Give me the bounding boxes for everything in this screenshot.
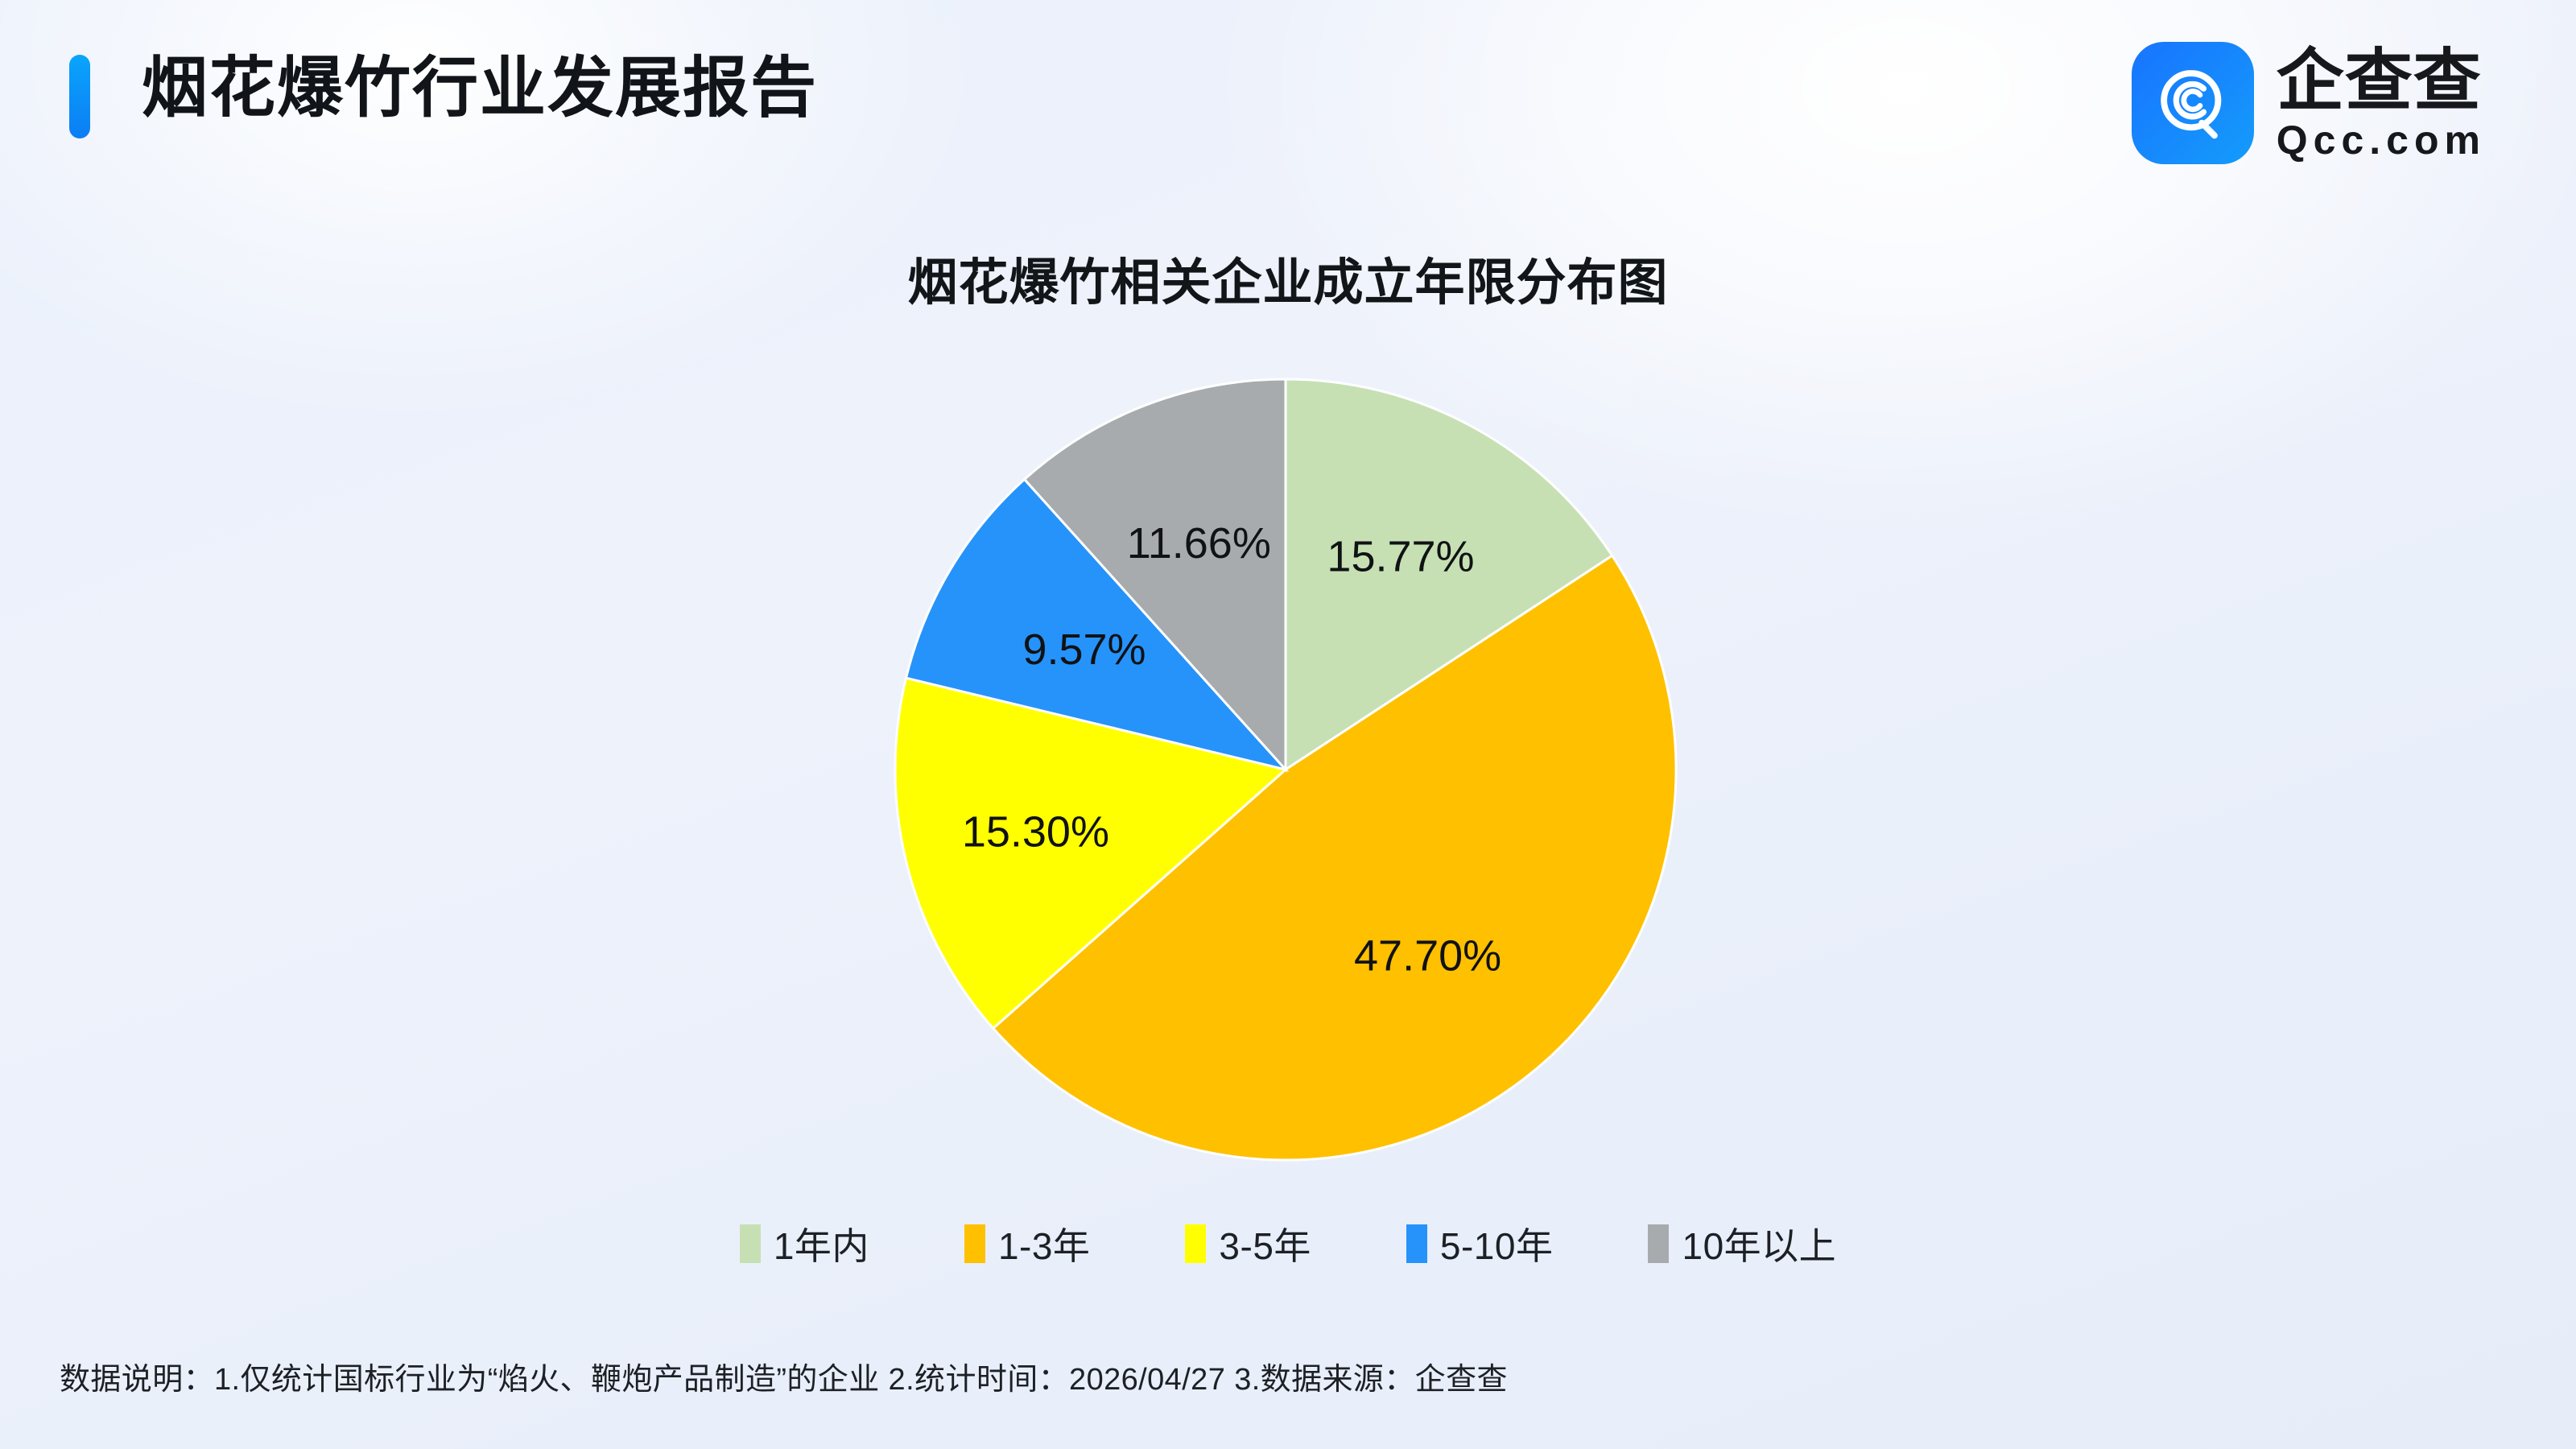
qcc-logo-icon (2132, 42, 2254, 164)
page-title: 烟花爆竹行业发展报告 (142, 43, 818, 134)
legend-swatch-icon (1185, 1224, 1206, 1263)
chart-legend: 1年内1-3年3-5年5-10年10年以上 (0, 1217, 2576, 1270)
legend-item-label: 5-10年 (1440, 1217, 1554, 1270)
legend-swatch-icon (740, 1224, 761, 1263)
legend-item[interactable]: 1年内 (740, 1217, 869, 1270)
brand-logo[interactable]: 企查查 Qcc.com (2132, 42, 2486, 164)
chart-title: 烟花爆竹相关企业成立年限分布图 (0, 242, 2576, 314)
pie-slice-label: 11.66% (1127, 519, 1271, 568)
report-page: 烟花爆竹行业发展报告 企查查 Qcc.com 烟花爆竹相关企业成立年限分布图 (0, 0, 2576, 1449)
page-header: 烟花爆竹行业发展报告 企查查 Qcc.com (0, 0, 2576, 209)
title-accent-bar-icon (69, 55, 90, 138)
pie-slice-label: 15.77% (1327, 533, 1474, 581)
pie-slice-label: 9.57% (1022, 625, 1146, 674)
legend-item[interactable]: 10年以上 (1648, 1217, 1836, 1270)
legend-item-label: 1-3年 (998, 1217, 1090, 1270)
pie-slice-group (895, 379, 1676, 1160)
legend-item-label: 3-5年 (1219, 1217, 1311, 1270)
legend-item-label: 1年内 (774, 1217, 869, 1270)
brand-name: 企查查 (2277, 43, 2482, 118)
pie-chart-svg: 15.77%47.70%15.30%9.57%11.66% (891, 375, 1680, 1164)
legend-swatch-icon (1648, 1224, 1669, 1263)
legend-item[interactable]: 5-10年 (1406, 1217, 1554, 1270)
legend-item[interactable]: 3-5年 (1185, 1217, 1311, 1270)
legend-swatch-icon (1406, 1224, 1427, 1263)
pie-chart: 15.77%47.70%15.30%9.57%11.66% (891, 375, 1680, 1164)
pie-slice-label: 47.70% (1354, 931, 1501, 980)
legend-swatch-icon (964, 1224, 985, 1263)
brand-text: 企查查 Qcc.com (2277, 43, 2486, 163)
pie-slice-label: 15.30% (962, 807, 1109, 856)
legend-item[interactable]: 1-3年 (964, 1217, 1090, 1270)
brand-domain: Qcc.com (2277, 118, 2486, 163)
footnote: 数据说明：1.仅统计国标行业为“焰火、鞭炮产品制造”的企业 2.统计时间：202… (60, 1354, 1508, 1398)
legend-item-label: 10年以上 (1682, 1217, 1836, 1270)
